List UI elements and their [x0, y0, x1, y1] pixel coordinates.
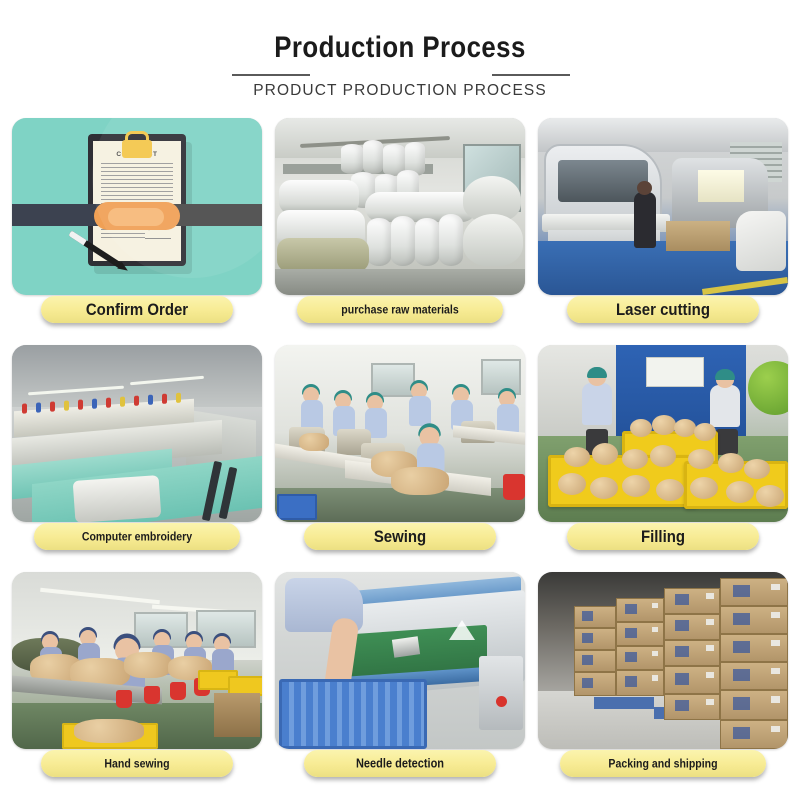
production-process-page: Production Process PRODUCT PRODUCTION PR… [0, 0, 800, 800]
stuffed-bear [590, 477, 618, 499]
stuffed-bear [744, 459, 770, 479]
cardboard-boxes [666, 221, 730, 251]
page-title: Production Process [56, 30, 744, 66]
step-label-banner-2: purchase raw materials [297, 296, 503, 323]
thread-spool [148, 395, 153, 405]
step-label-banner-8: Needle detection [304, 750, 496, 777]
title-rule-right [492, 74, 570, 76]
process-step-1: CONTRACT [10, 118, 264, 336]
machine-light-panel [698, 170, 744, 202]
thread-spool [106, 398, 111, 408]
stuffed-bear [564, 447, 590, 467]
worker-stool [716, 429, 738, 455]
carton-box [616, 622, 664, 646]
fabric-sack [463, 214, 523, 266]
right-arm-graphic [142, 204, 262, 226]
carton-box [616, 670, 664, 696]
carton-box [574, 628, 616, 650]
stuffed-bear [650, 445, 676, 467]
thread-spool [64, 400, 69, 410]
belt-guide-plate [449, 620, 475, 640]
thread-spool [134, 396, 139, 406]
step-label-4: Computer embroidery [82, 530, 192, 543]
step-label-banner-3: Laser cutting [567, 296, 759, 323]
step-label-banner-7: Hand sewing [41, 750, 233, 777]
step-label-7: Hand sewing [104, 757, 169, 770]
step-label-banner-5: Sewing [304, 523, 496, 550]
carton-box [574, 650, 616, 672]
step-image-computer-embroidery [12, 345, 262, 522]
fabric-roll [363, 140, 383, 174]
red-stool [144, 686, 160, 704]
carton-box [574, 672, 616, 696]
handshake-graphic [94, 202, 180, 230]
contract-body-lines [101, 163, 173, 207]
step-image-hand-sewing [12, 572, 262, 749]
stuffed-bear [592, 443, 618, 465]
page-subtitle: PRODUCT PRODUCTION PROCESS [0, 82, 800, 100]
emergency-stop-button[interactable] [496, 696, 507, 707]
stuffed-bear [558, 473, 586, 495]
carton-box [616, 598, 664, 622]
fabric-pile [277, 238, 369, 272]
stuffed-bear [688, 449, 714, 469]
left-cuff-graphic [124, 202, 146, 228]
carton-box [720, 578, 788, 606]
cardboard-box [214, 693, 260, 737]
stuffed-bear [652, 415, 676, 435]
filling-worker [582, 383, 612, 425]
red-stool [170, 682, 186, 700]
plush-parts-pile [391, 467, 449, 495]
fabric-roll [391, 216, 415, 266]
step-label-9: Packing and shipping [608, 757, 717, 770]
detected-part [392, 636, 420, 657]
machine-casing [73, 475, 162, 522]
carton-box [574, 606, 616, 628]
pallet [594, 697, 654, 709]
step-image-laser-cutting [538, 118, 788, 295]
step-image-purchase-raw-materials [275, 118, 525, 295]
right-cuff-graphic [128, 202, 150, 228]
contract-footer-lines [101, 229, 145, 241]
wall-notice-board [646, 357, 704, 387]
thread-spool [22, 403, 27, 413]
thread-spool [176, 393, 181, 403]
stuffed-bear [630, 419, 652, 437]
carton-box [720, 690, 788, 720]
carton-box [720, 720, 788, 749]
step-image-needle-detection [275, 572, 525, 749]
fabric-roll [341, 144, 363, 174]
left-arm-graphic [12, 204, 132, 226]
stuffed-bear [656, 479, 684, 501]
stuffed-bear [622, 449, 648, 469]
laser-machine-operator [634, 192, 656, 248]
filling-worker [710, 385, 740, 427]
stuffed-bear [756, 485, 784, 507]
thread-spool [50, 401, 55, 411]
carton-box [616, 646, 664, 670]
step-label-8: Needle detection [352, 757, 449, 770]
thread-spool [36, 402, 41, 412]
blue-crate [277, 494, 317, 520]
process-step-4: Computer embroidery [10, 345, 264, 563]
carton-box [720, 634, 788, 662]
carton-box [720, 662, 788, 690]
process-step-5: Sewing [273, 345, 527, 563]
step-label-3: Laser cutting [616, 301, 710, 319]
carton-box [664, 614, 720, 640]
thread-spool [162, 394, 167, 404]
step-image-confirm-order: CONTRACT [12, 118, 262, 295]
process-step-grid: CONTRACT [10, 118, 790, 790]
process-step-7: Hand sewing [10, 572, 264, 790]
stuffed-bear [690, 477, 718, 499]
process-step-3: Laser cutting [536, 118, 790, 336]
stuffed-bear [694, 423, 716, 441]
thread-spool [92, 398, 97, 408]
red-stool [116, 690, 132, 708]
carton-box [664, 666, 720, 694]
carton-box [720, 606, 788, 634]
green-exercise-ball [748, 361, 788, 415]
page-header: Production Process PRODUCT PRODUCTION PR… [0, 0, 800, 112]
step-label-1: Confirm Order [86, 301, 188, 319]
stuffed-bear [622, 475, 650, 497]
step-label-6: Filling [641, 528, 685, 546]
stuffed-bear [674, 419, 696, 437]
thread-spool [120, 397, 125, 407]
control-panel [479, 656, 523, 730]
carton-box [664, 640, 720, 666]
white-fabric-bag [736, 211, 786, 271]
process-step-2: purchase raw materials [273, 118, 527, 336]
step-label-banner-4: Computer embroidery [34, 523, 240, 550]
fabric-roll [415, 218, 439, 266]
clipboard-graphic: CONTRACT [88, 134, 186, 266]
fabric-roll [367, 218, 391, 266]
step-label-5: Sewing [374, 528, 426, 546]
plush-toy-pile [124, 652, 172, 678]
plush-toy-pile [74, 719, 144, 743]
fabric-pile [279, 180, 359, 214]
process-step-9: Packing and shipping [536, 572, 790, 790]
step-image-filling [538, 345, 788, 522]
thread-spool [78, 399, 83, 409]
step-label-banner-1: Confirm Order [41, 296, 233, 323]
stuffed-bear [718, 453, 744, 473]
step-label-2: purchase raw materials [341, 303, 458, 316]
step-label-banner-6: Filling [567, 523, 759, 550]
contract-heading: CONTRACT [93, 151, 181, 158]
stuffed-bear [726, 481, 754, 503]
carton-box [664, 588, 720, 614]
process-step-6: Filling [536, 345, 790, 563]
red-stool [503, 474, 525, 500]
carton-box [664, 694, 720, 720]
warehouse-floor [275, 269, 525, 295]
blue-parts-crate [279, 679, 427, 749]
clipboard-clamp-icon [122, 140, 152, 158]
plush-parts-pile [299, 433, 329, 451]
process-step-8: Needle detection [273, 572, 527, 790]
step-image-sewing [275, 345, 525, 522]
title-rule-left [232, 74, 310, 76]
fabric-roll [439, 214, 463, 266]
step-label-banner-9: Packing and shipping [560, 750, 766, 777]
signature-graphic [145, 225, 171, 239]
step-image-packing-shipping [538, 572, 788, 749]
